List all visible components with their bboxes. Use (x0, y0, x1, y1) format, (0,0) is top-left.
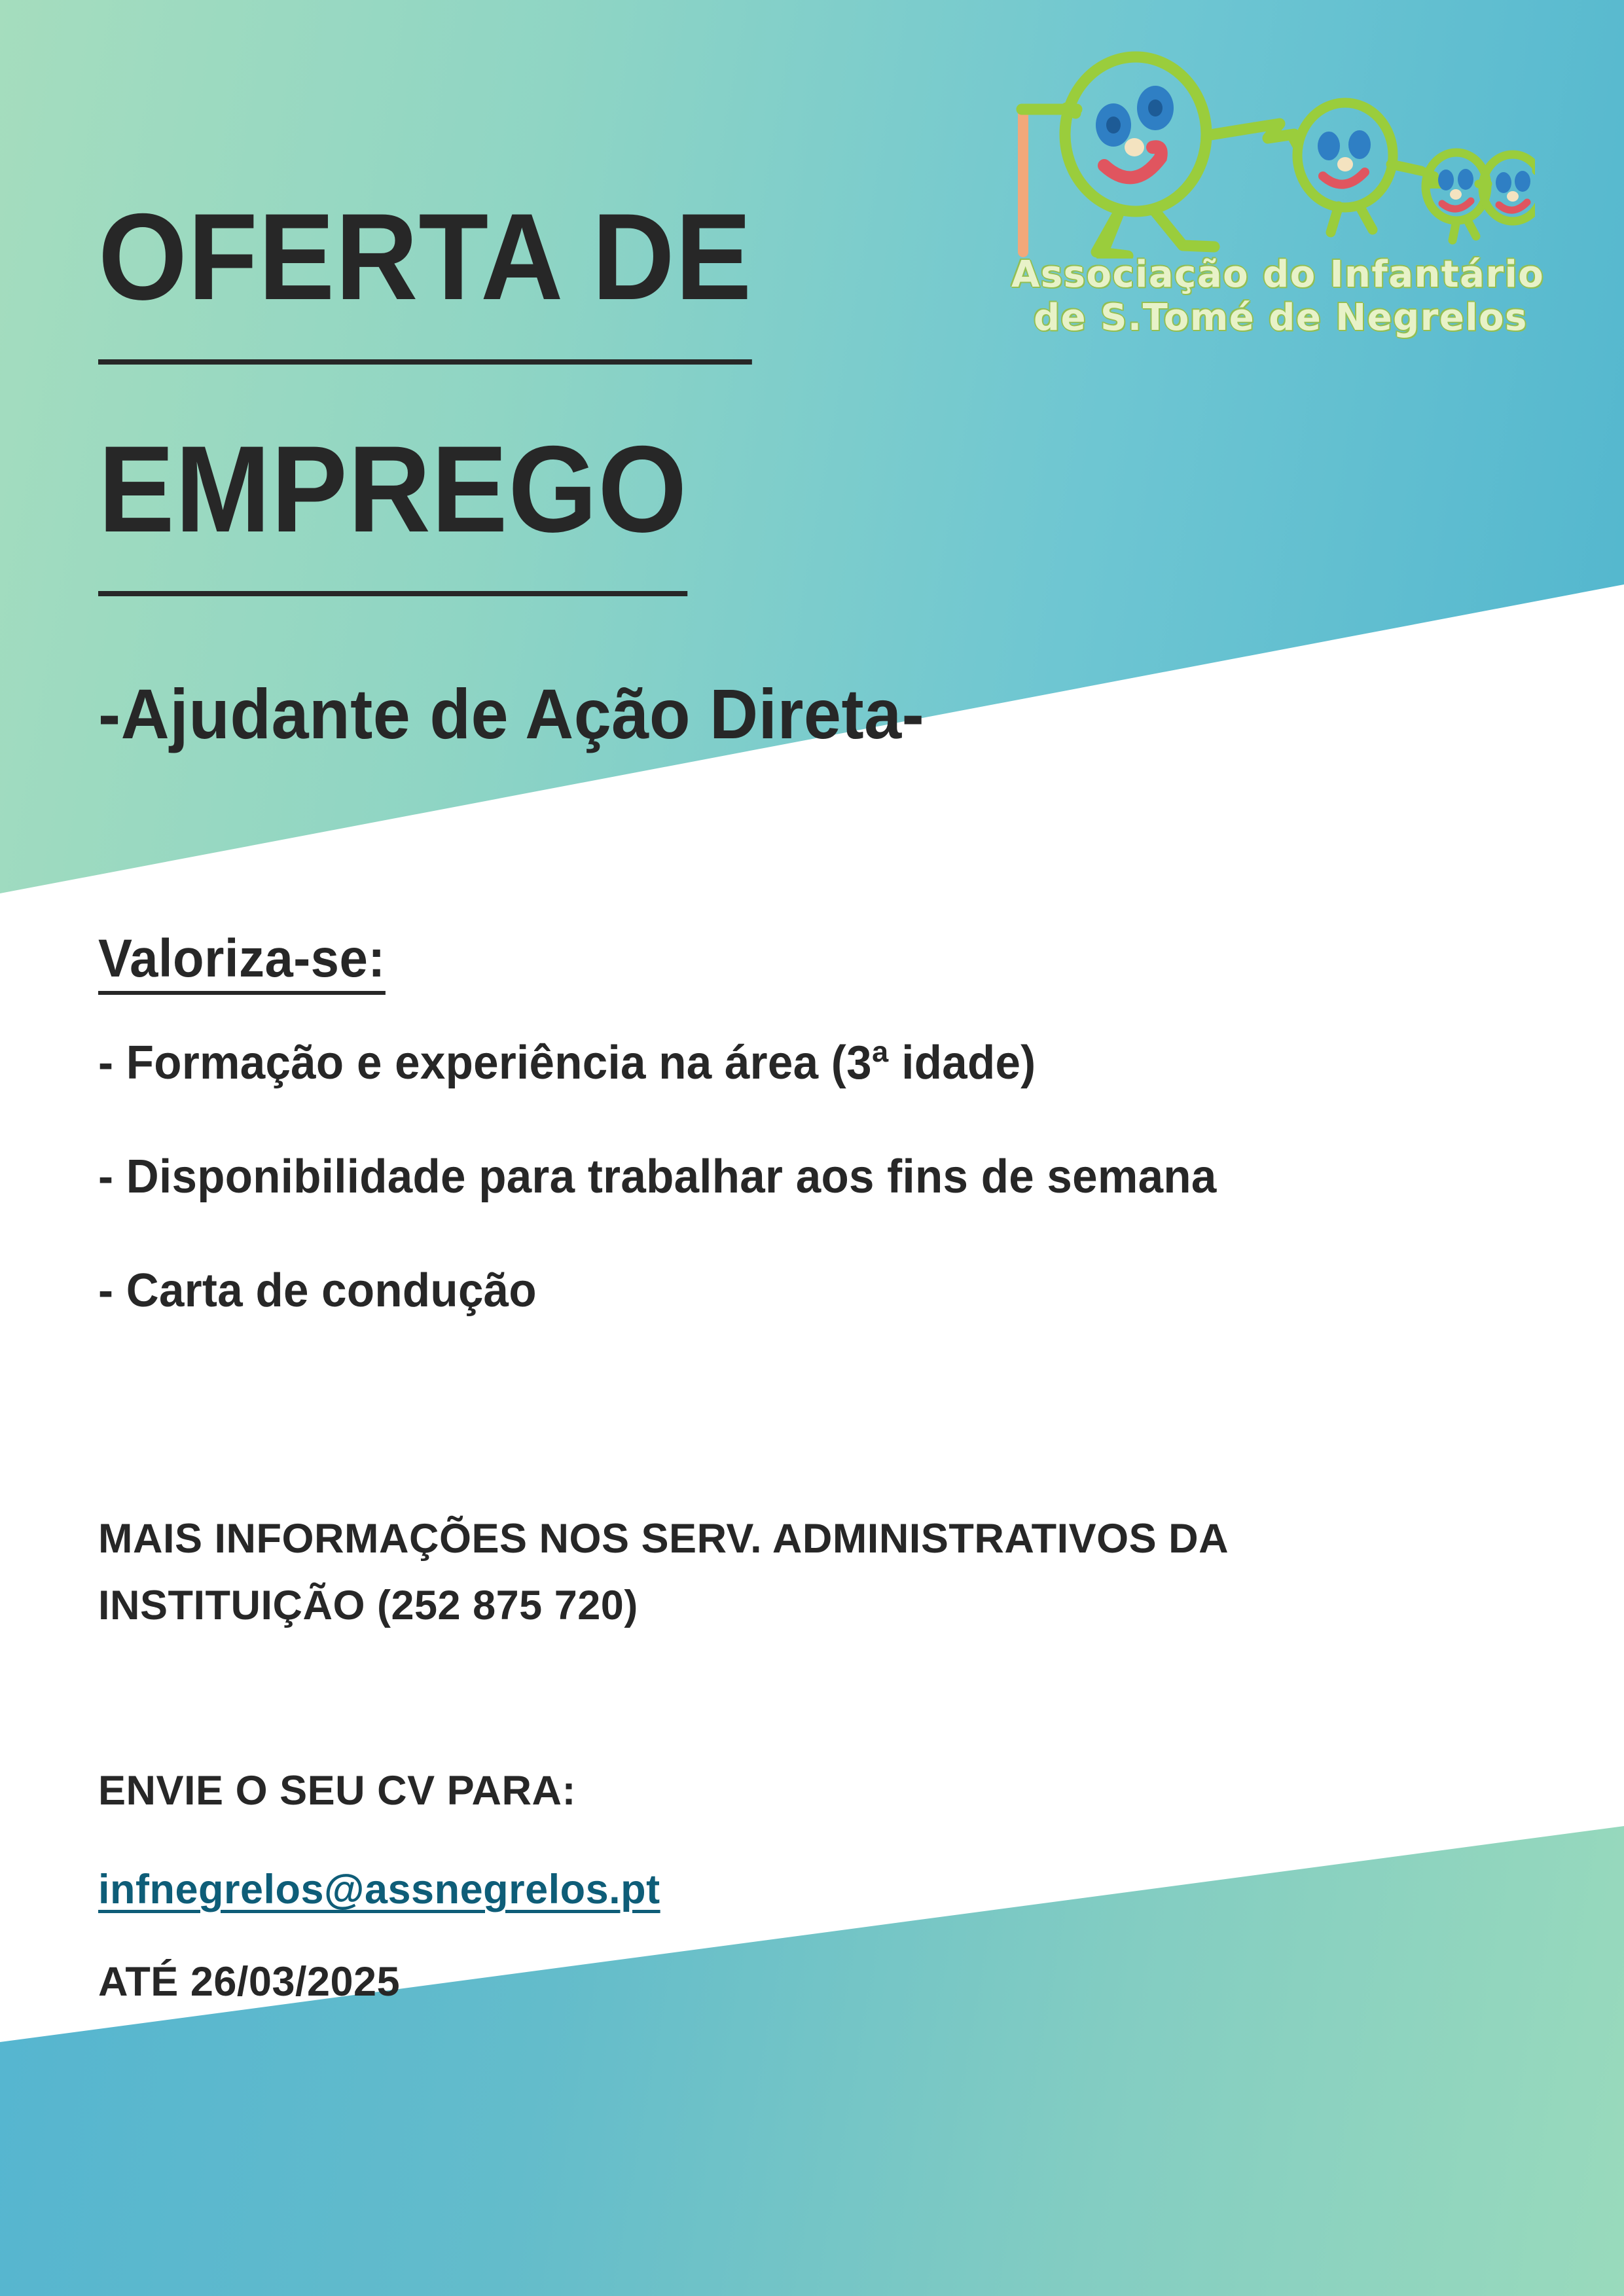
list-item: - Disponibilidade para trabalhar aos fin… (98, 1153, 1468, 1200)
list-item: - Formação e experiência na área (3ª ida… (98, 1039, 1468, 1086)
info-line-2: INSTITUIÇÃO (252 875 720) (98, 1572, 1522, 1639)
face-features-fourth (1496, 171, 1530, 210)
info-line-1: MAIS INFORMAÇÕES NOS SERV. ADMINISTRATIV… (98, 1505, 1522, 1572)
application-deadline: ATÉ 26/03/2025 (98, 1962, 1146, 2003)
face-features-third (1438, 169, 1473, 209)
requirements-heading: Valoriza-se: (98, 928, 386, 995)
logo-wordmark: Associação do Infantário de S.Tomé de Ne… (998, 253, 1548, 340)
email-link[interactable]: infnegrelos@assnegrelos.pt (98, 1869, 660, 1910)
job-offer-poster: Associação do Infantário de S.Tomé de Ne… (0, 0, 1624, 2296)
logo-wordmark-line1: Associação do Infantário (1011, 253, 1548, 296)
face-features-second (1318, 130, 1371, 185)
list-item: - Carta de condução (98, 1267, 1468, 1314)
title-line-1: OFERTA DE (98, 157, 752, 365)
job-role-subtitle: -Ajudante de Ação Direta- (98, 673, 924, 755)
title-line-2: EMPREGO (98, 389, 687, 597)
organization-logo: Associação do Infantário de S.Tomé de Ne… (998, 36, 1535, 403)
children-chain-drawing-icon (998, 36, 1535, 259)
face-features-big (1096, 86, 1174, 177)
page-title: OFERTA DE EMPREGO (98, 157, 902, 596)
requirements-heading-label: Valoriza-se: (98, 928, 386, 995)
logo-wordmark-line2: de S.Tomé de Negrelos (1011, 296, 1548, 340)
requirements-list: - Formação e experiência na área (3ª ida… (98, 1039, 1525, 1381)
cv-submission-block: ENVIE O SEU CV PARA: infnegrelos@assnegr… (98, 1770, 1146, 2003)
more-information-paragraph: MAIS INFORMAÇÕES NOS SERV. ADMINISTRATIV… (98, 1505, 1522, 1639)
cv-instruction-label: ENVIE O SEU CV PARA: (98, 1770, 1146, 1812)
